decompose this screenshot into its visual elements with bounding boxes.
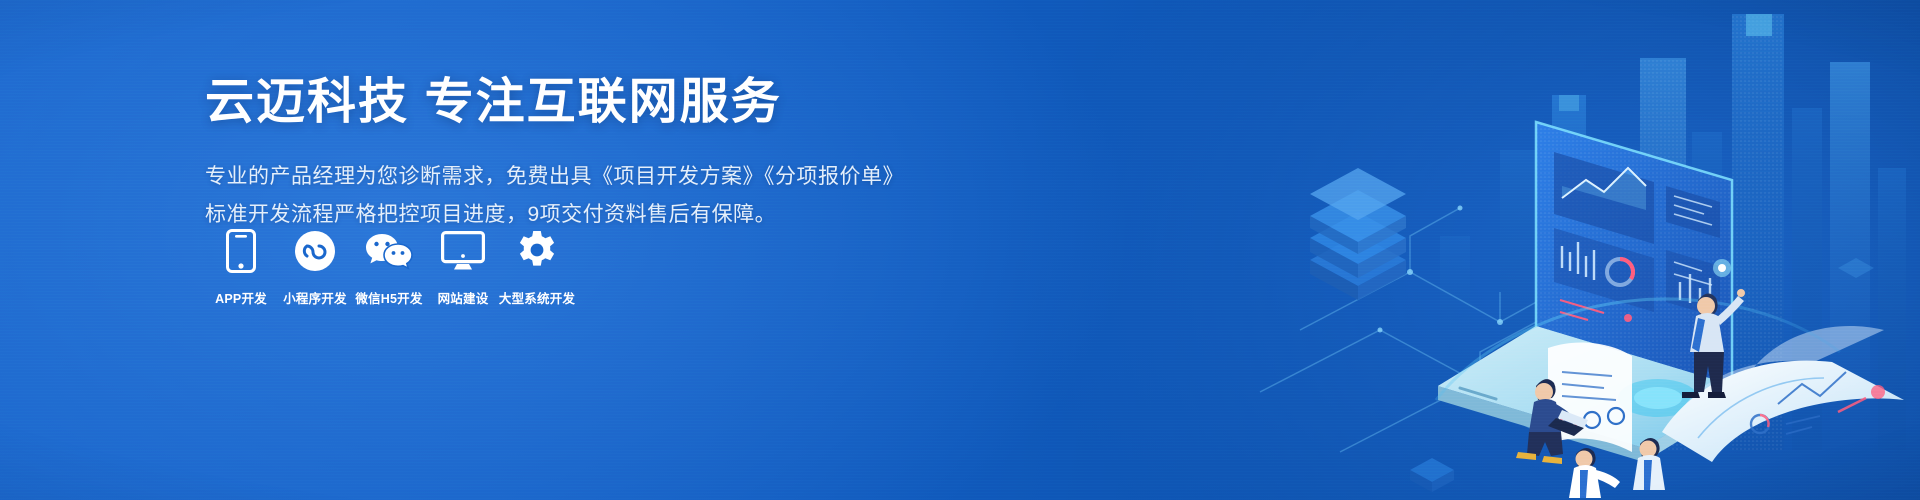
server-stack: [1310, 168, 1406, 300]
service-label: 微信H5开发: [355, 288, 422, 307]
mobile-phone-icon: [226, 228, 256, 274]
service-item-wechat-h5[interactable]: 微信H5开发: [353, 228, 425, 307]
monitor-icon: [441, 228, 485, 274]
page-title: 云迈科技 专注互联网服务: [205, 72, 965, 132]
subtitle-line-1: 专业的产品经理为您诊断需求，免费出具《项目开发方案》《分项报价单》: [205, 158, 965, 196]
isometric-tech-illustration: [940, 0, 1920, 500]
service-item-miniprogram[interactable]: 小程序开发: [279, 228, 351, 307]
service-label: 网站建设: [438, 288, 489, 307]
service-item-large-system[interactable]: 大型系统开发: [501, 228, 573, 307]
service-item-app[interactable]: APP开发: [205, 228, 277, 307]
service-label: APP开发: [215, 288, 267, 307]
hero-subtitle: 专业的产品经理为您诊断需求，免费出具《项目开发方案》《分项报价单》 标准开发流程…: [205, 158, 965, 234]
service-item-website[interactable]: 网站建设: [427, 228, 499, 307]
hero-copy: 云迈科技 专注互联网服务 专业的产品经理为您诊断需求，免费出具《项目开发方案》《…: [205, 72, 965, 234]
hero-banner: 云迈科技 专注互联网服务 专业的产品经理为您诊断需求，免费出具《项目开发方案》《…: [0, 0, 1920, 500]
gear-icon: [516, 228, 558, 274]
mini-program-icon: [294, 228, 336, 274]
wechat-icon: [365, 228, 413, 274]
service-label: 小程序开发: [283, 288, 347, 307]
service-label: 大型系统开发: [499, 288, 575, 307]
service-list: APP开发 小程序开发 微信: [205, 228, 573, 307]
